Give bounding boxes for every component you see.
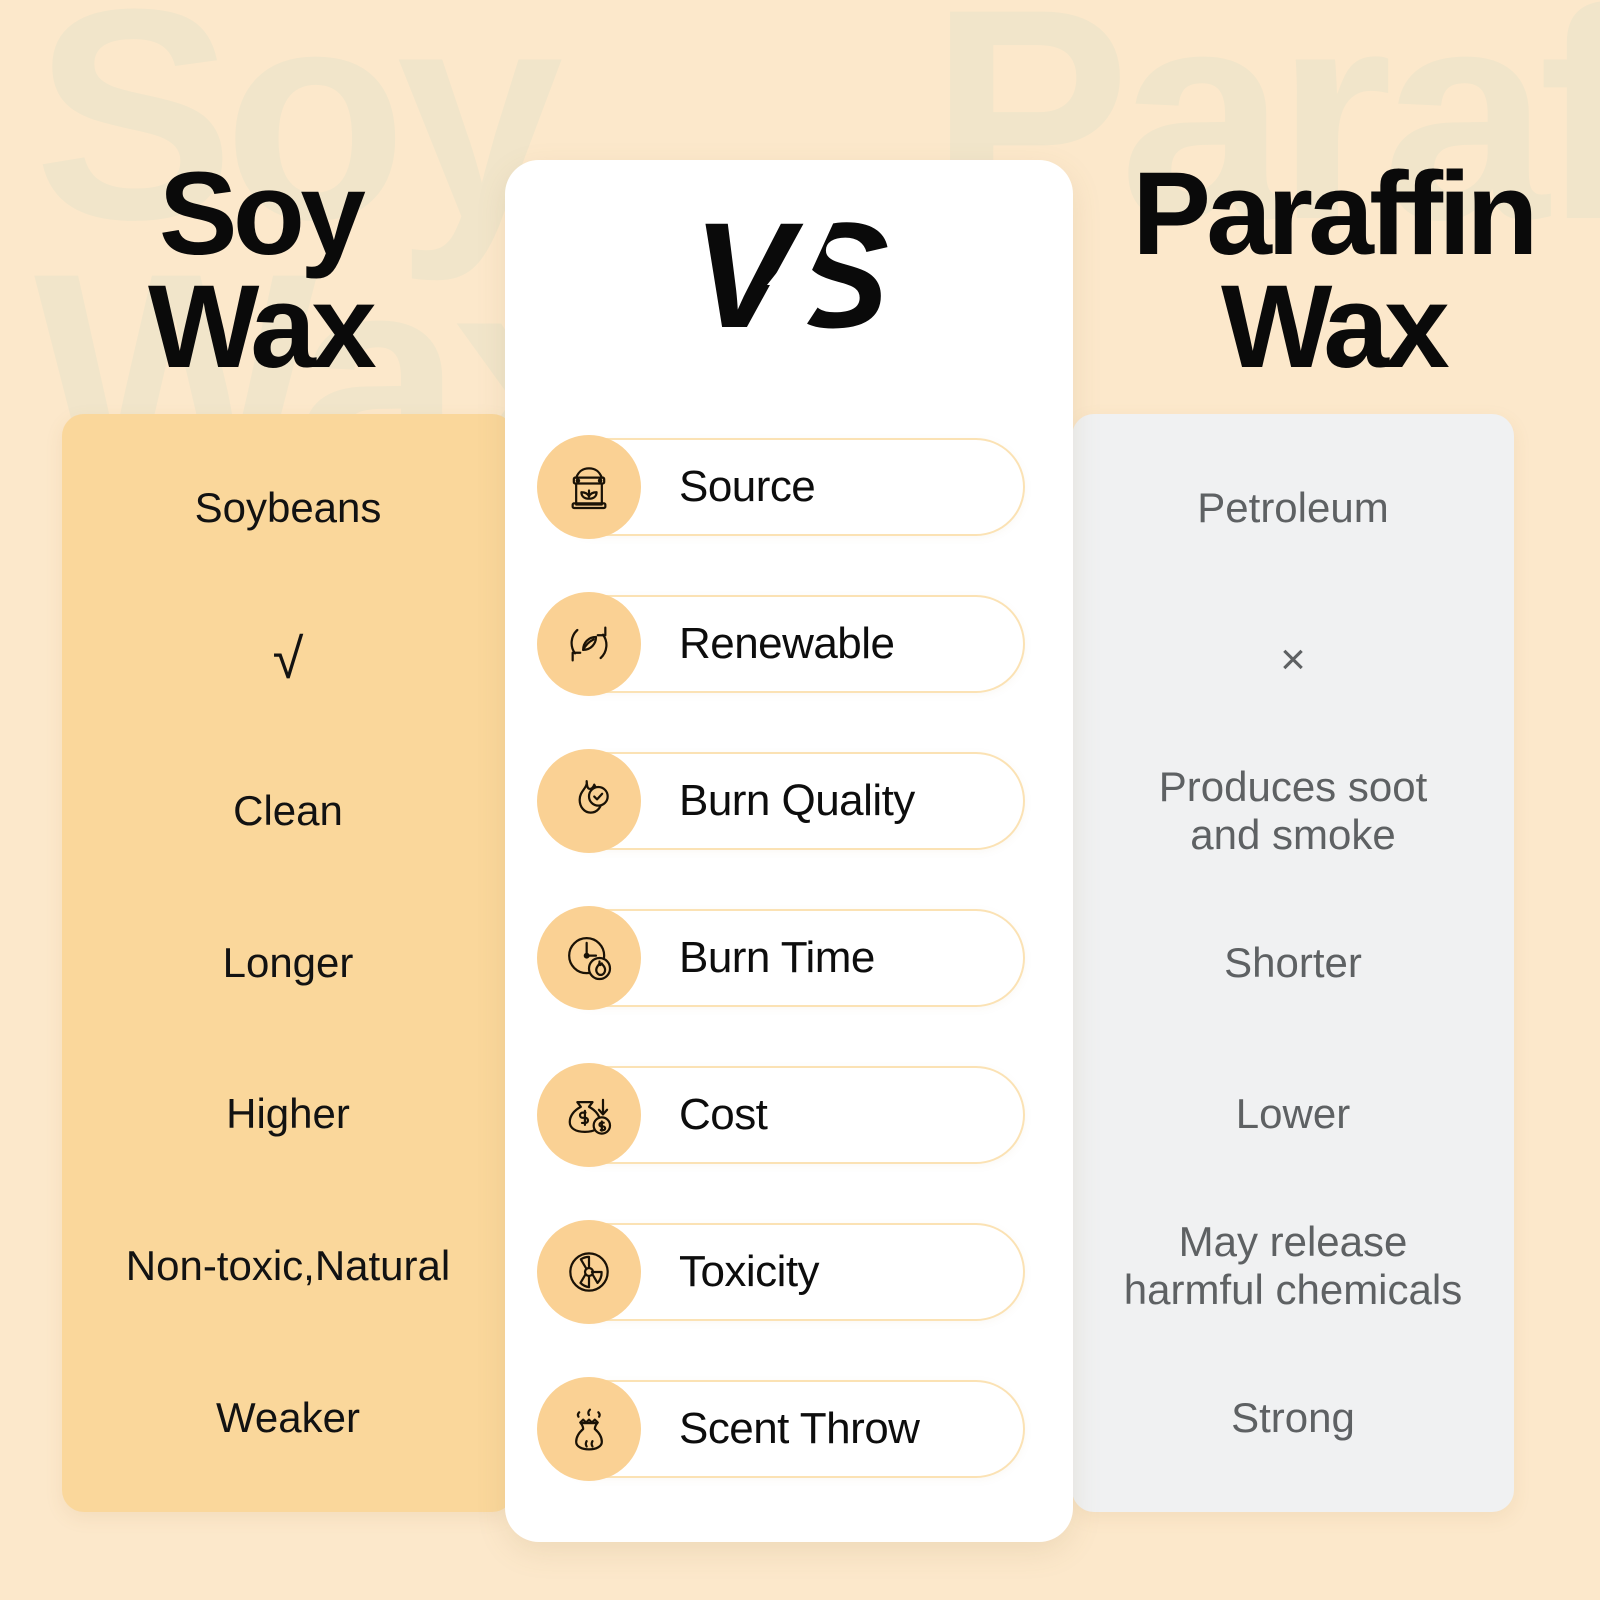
svg-text:VS: VS (693, 191, 888, 359)
feature-row[interactable]: Scent Throw (549, 1351, 1025, 1508)
soy-values-column: Soybeans √ Clean Longer Higher Non-toxic… (62, 414, 514, 1512)
soy-value-burn-quality: Clean (76, 735, 500, 887)
soy-value-source: Soybeans (76, 432, 500, 584)
feature-label: Renewable (679, 619, 894, 669)
paraffin-value-toxicity: May release harmful chemicals (1086, 1191, 1500, 1343)
feature-pill-scent-throw[interactable]: Scent Throw (549, 1380, 1025, 1478)
paraffin-value-burn-quality: Produces soot and smoke (1086, 735, 1500, 887)
radiation-icon (537, 1220, 641, 1324)
paraffin-value-cost: Lower (1086, 1039, 1500, 1191)
feature-pill-burn-time[interactable]: Burn Time (549, 909, 1025, 1007)
feature-label: Burn Quality (679, 776, 915, 826)
feature-pill-cost[interactable]: Cost (549, 1066, 1025, 1164)
feature-label: Burn Time (679, 933, 875, 983)
soy-wax-panel: Soybeans √ Clean Longer Higher Non-toxic… (62, 414, 514, 1512)
feature-rows: Source Renew (505, 408, 1073, 1542)
feature-row[interactable]: Renewable (549, 565, 1025, 722)
vs-lightning-logo: VS (689, 169, 889, 399)
soy-value-burn-time: Longer (76, 887, 500, 1039)
paraffin-value-scent-throw: Strong (1086, 1342, 1500, 1494)
paraffin-wax-panel: Petroleum × Produces soot and smoke Shor… (1072, 414, 1514, 1512)
feature-label: Cost (679, 1090, 767, 1140)
paraffin-values-column: Petroleum × Produces soot and smoke Shor… (1072, 414, 1514, 1512)
paraffin-value-renewable: × (1086, 584, 1500, 736)
paraffin-wax-title: Paraffin Wax (1078, 158, 1588, 385)
soy-value-renewable: √ (76, 584, 500, 736)
scented-sack-icon (537, 1377, 641, 1481)
infographic-root: Soy Wax Paraffi Soybeans √ Clean Longer … (0, 0, 1600, 1600)
feature-label: Toxicity (679, 1247, 819, 1297)
feature-row[interactable]: Cost (549, 1037, 1025, 1194)
feature-pill-renewable[interactable]: Renewable (549, 595, 1025, 693)
money-bag-down-icon (537, 1063, 641, 1167)
vs-logo-wrapper: VS (505, 160, 1073, 408)
paraffin-value-source: Petroleum (1086, 432, 1500, 584)
feature-pill-burn-quality[interactable]: Burn Quality (549, 752, 1025, 850)
flame-check-icon (537, 749, 641, 853)
feature-label: Source (679, 462, 815, 512)
clock-flame-icon (537, 906, 641, 1010)
feature-label: Scent Throw (679, 1404, 919, 1454)
soy-value-scent-throw: Weaker (76, 1342, 500, 1494)
soy-value-toxicity: Non-toxic,Natural (76, 1191, 500, 1343)
soy-value-cost: Higher (76, 1039, 500, 1191)
feature-row[interactable]: Toxicity (549, 1194, 1025, 1351)
feature-pill-toxicity[interactable]: Toxicity (549, 1223, 1025, 1321)
recycle-leaf-icon (537, 592, 641, 696)
feature-row[interactable]: Source (549, 408, 1025, 565)
feature-row[interactable]: Burn Time (549, 879, 1025, 1036)
sack-of-beans-icon (537, 435, 641, 539)
soy-wax-title: Soy Wax (60, 158, 460, 385)
vs-feature-card: VS (505, 160, 1073, 1542)
feature-row[interactable]: Burn Quality (549, 722, 1025, 879)
feature-pill-source[interactable]: Source (549, 438, 1025, 536)
paraffin-value-burn-time: Shorter (1086, 887, 1500, 1039)
